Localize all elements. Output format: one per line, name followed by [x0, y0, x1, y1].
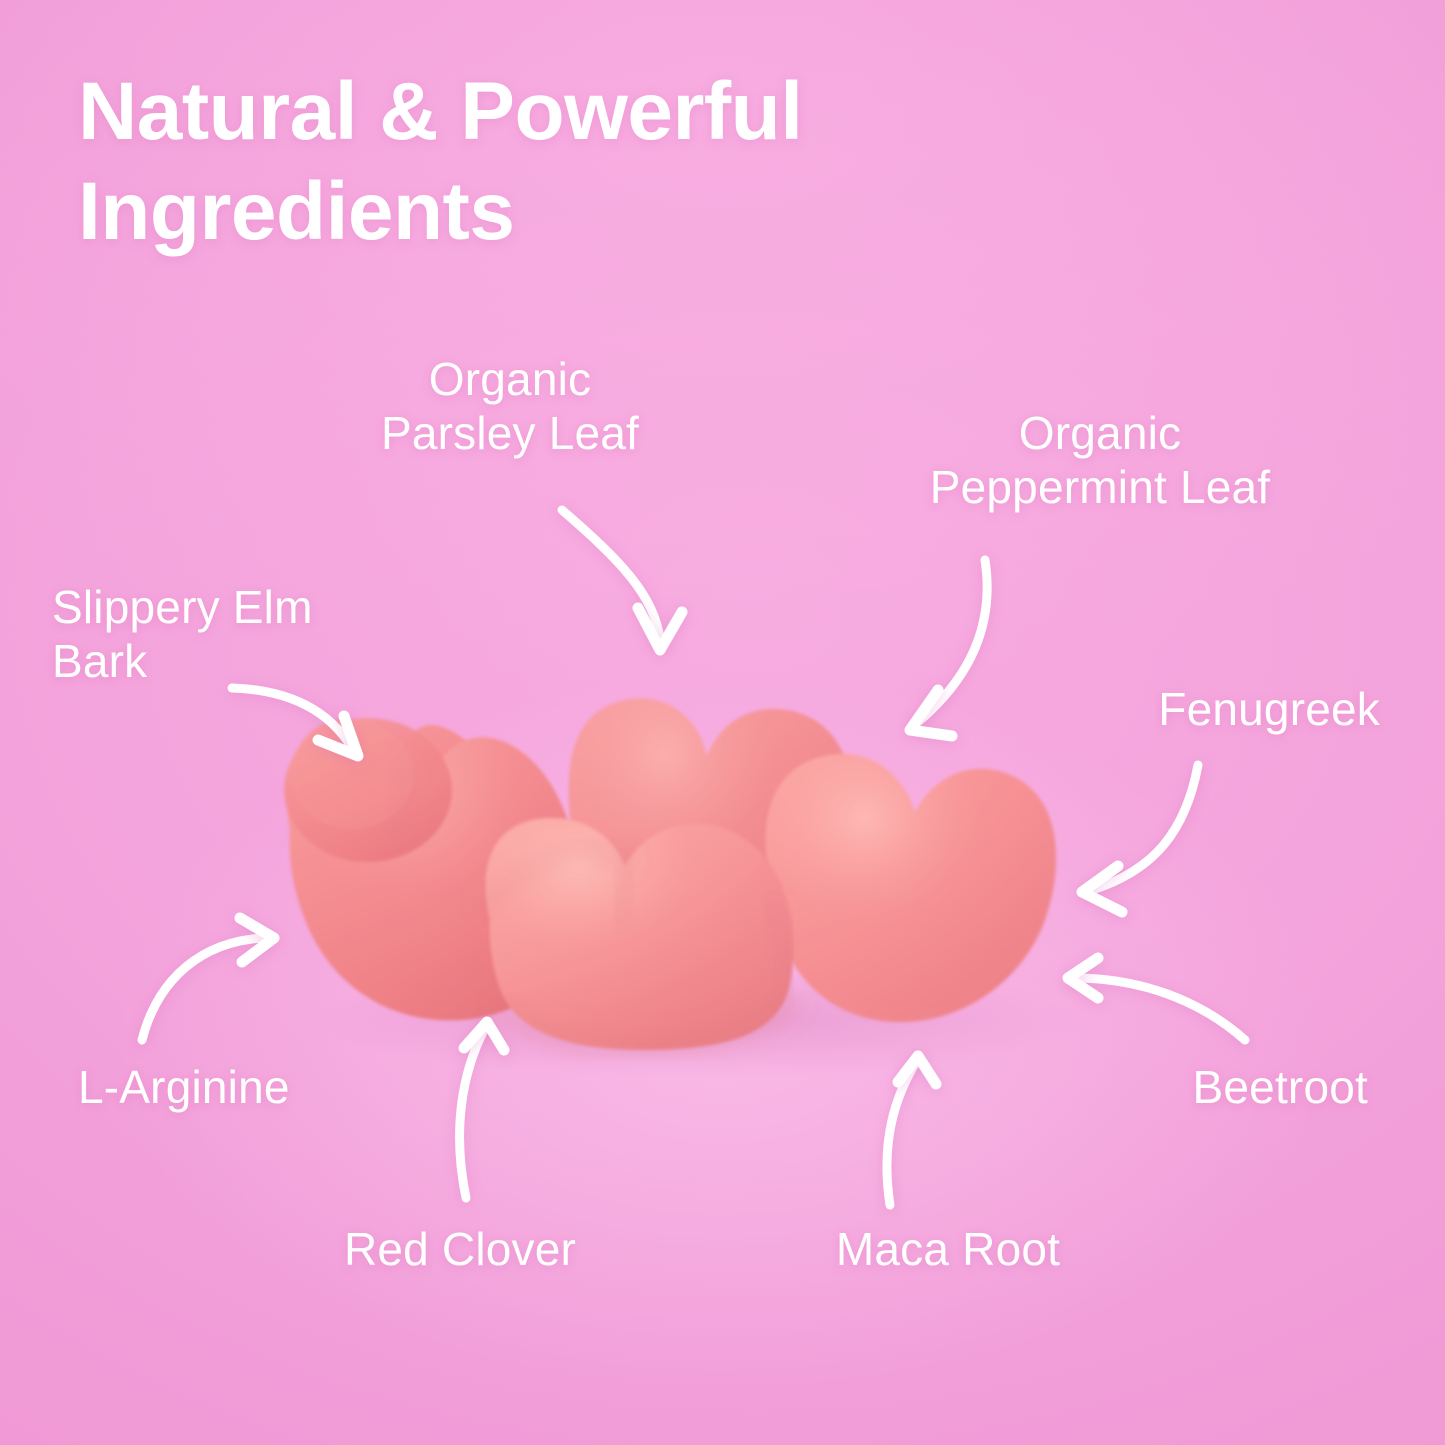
arrow-slippery-elm-icon	[232, 688, 358, 756]
arrow-l-arginine-icon	[142, 918, 274, 1040]
gummy-heart-left	[284, 718, 579, 1020]
ingredient-label-fenugreek: Fenugreek	[1158, 682, 1380, 736]
ingredient-label-parsley: Organic Parsley Leaf	[381, 352, 639, 461]
gummy-heart-right	[766, 754, 1056, 1022]
arrow-peppermint-icon	[910, 560, 987, 736]
ingredient-label-peppermint: Organic Peppermint Leaf	[930, 406, 1271, 515]
arrow-parsley-icon	[562, 510, 682, 650]
gummy-heart-front-center	[486, 818, 794, 1050]
arrow-beetroot-icon	[1068, 958, 1245, 1040]
page-title: Natural & Powerful Ingredients	[78, 62, 1078, 262]
gummy-heart-back-center	[569, 698, 853, 1007]
ingredient-label-slippery-elm-bark: Slippery Elm Bark	[52, 580, 313, 689]
arrow-red-clover-icon	[460, 1022, 504, 1198]
ingredient-label-l-arginine: L-Arginine	[78, 1060, 290, 1114]
ingredient-label-beetroot: Beetroot	[1193, 1060, 1369, 1114]
gummy-floor-shadow	[310, 962, 1090, 1078]
arrow-maca-root-icon	[887, 1056, 936, 1205]
arrow-fenugreek-icon	[1082, 765, 1198, 912]
ingredient-label-red-clover: Red Clover	[344, 1222, 576, 1276]
ingredient-label-maca-root: Maca Root	[836, 1222, 1060, 1276]
ingredients-infographic: Natural & Powerful Ingredients Organic P…	[0, 0, 1445, 1445]
